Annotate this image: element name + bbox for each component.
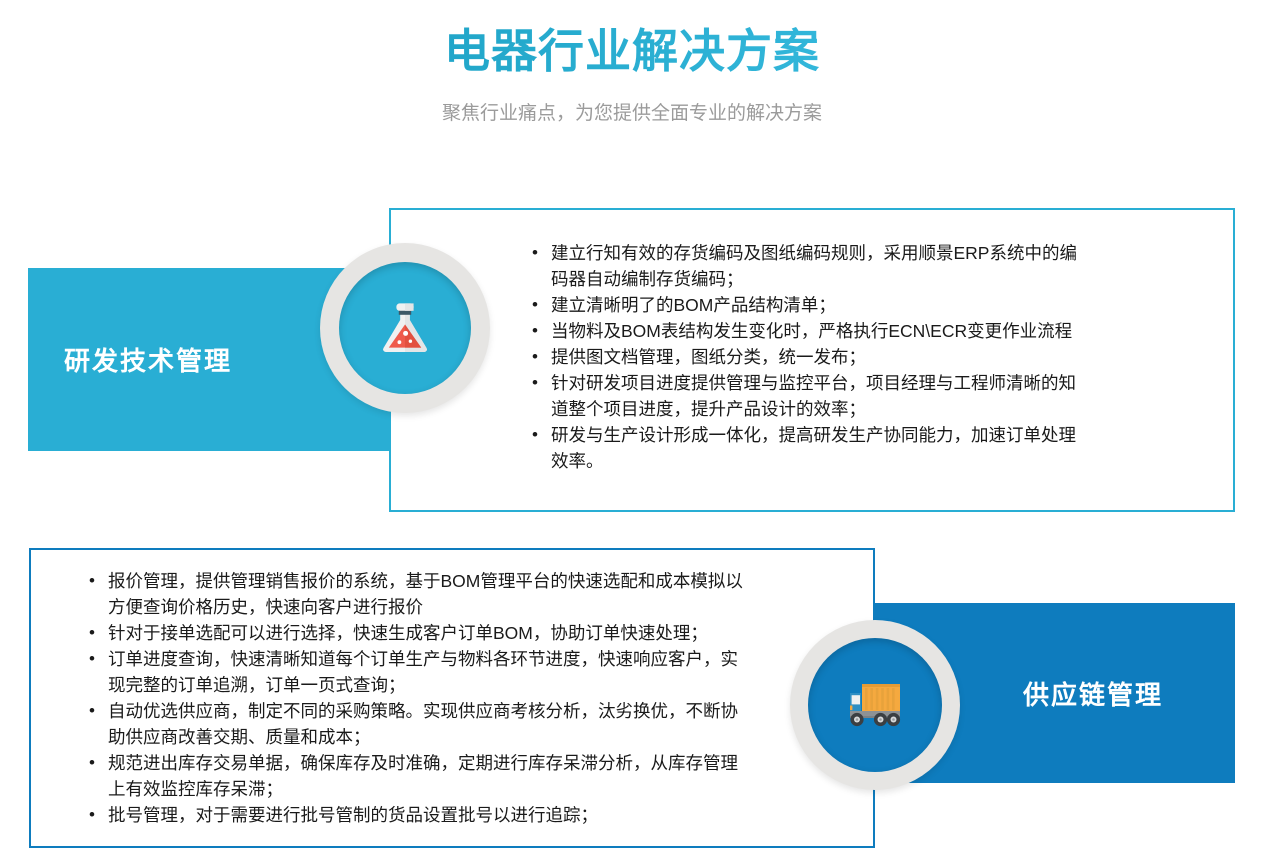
bullet-marker: • bbox=[82, 750, 108, 776]
list-item-text: 提供图文档管理，图纸分类，统一发布； bbox=[551, 344, 1085, 370]
list-item-text: 研发与生产设计形成一体化，提高研发生产协同能力，加速订单处理效率。 bbox=[551, 422, 1085, 474]
section-1-icon-badge bbox=[320, 243, 490, 413]
list-item: • 自动优选供应商，制定不同的采购策略。实现供应商考核分析，汰劣换优，不断协助供… bbox=[82, 698, 744, 750]
bullet-marker: • bbox=[82, 646, 108, 672]
list-item: • 建立清晰明了的BOM产品结构清单； bbox=[525, 292, 1085, 318]
page-subtitle: 聚焦行业痛点，为您提供全面专业的解决方案 bbox=[0, 100, 1264, 128]
list-item-text: 自动优选供应商，制定不同的采购策略。实现供应商考核分析，汰劣换优，不断协助供应商… bbox=[108, 698, 744, 750]
bullet-marker: • bbox=[82, 802, 108, 828]
bullet-marker: • bbox=[82, 698, 108, 724]
section-1-bullet-list: • 建立行知有效的存货编码及图纸编码规则，采用顺景ERP系统中的编码器自动编制存… bbox=[525, 240, 1085, 474]
list-item-text: 当物料及BOM表结构发生变化时，严格执行ECN\ECR变更作业流程 bbox=[551, 318, 1085, 344]
section-1-label: 研发技术管理 bbox=[64, 341, 232, 378]
bullet-marker: • bbox=[525, 240, 551, 266]
list-item: • 提供图文档管理，图纸分类，统一发布； bbox=[525, 344, 1085, 370]
list-item-text: 建立行知有效的存货编码及图纸编码规则，采用顺景ERP系统中的编码器自动编制存货编… bbox=[551, 240, 1085, 292]
bullet-marker: • bbox=[525, 344, 551, 370]
section-2-bullet-list: • 报价管理，提供管理销售报价的系统，基于BOM管理平台的快速选配和成本模拟以方… bbox=[82, 568, 744, 828]
bullet-marker: • bbox=[525, 422, 551, 448]
section-2-icon-badge bbox=[790, 620, 960, 790]
list-item-text: 针对研发项目进度提供管理与监控平台，项目经理与工程师清晰的知道整个项目进度，提升… bbox=[551, 370, 1085, 422]
list-item: • 针对研发项目进度提供管理与监控平台，项目经理与工程师清晰的知道整个项目进度，… bbox=[525, 370, 1085, 422]
bullet-marker: • bbox=[525, 292, 551, 318]
list-item: • 报价管理，提供管理销售报价的系统，基于BOM管理平台的快速选配和成本模拟以方… bbox=[82, 568, 744, 620]
list-item-text: 批号管理，对于需要进行批号管制的货品设置批号以进行追踪； bbox=[108, 802, 744, 828]
section-2-label: 供应链管理 bbox=[1023, 675, 1163, 712]
list-item: • 研发与生产设计形成一体化，提高研发生产协同能力，加速订单处理效率。 bbox=[525, 422, 1085, 474]
list-item: • 针对于接单选配可以进行选择，快速生成客户订单BOM，协助订单快速处理； bbox=[82, 620, 744, 646]
list-item: • 批号管理，对于需要进行批号管制的货品设置批号以进行追踪； bbox=[82, 802, 744, 828]
list-item-text: 报价管理，提供管理销售报价的系统，基于BOM管理平台的快速选配和成本模拟以方便查… bbox=[108, 568, 744, 620]
list-item-text: 建立清晰明了的BOM产品结构清单； bbox=[551, 292, 1085, 318]
flask-icon bbox=[373, 296, 437, 360]
list-item-text: 针对于接单选配可以进行选择，快速生成客户订单BOM，协助订单快速处理； bbox=[108, 620, 744, 646]
list-item: • 规范进出库存交易单据，确保库存及时准确，定期进行库存呆滞分析，从库存管理上有… bbox=[82, 750, 744, 802]
list-item: • 当物料及BOM表结构发生变化时，严格执行ECN\ECR变更作业流程 bbox=[525, 318, 1085, 344]
list-item-text: 规范进出库存交易单据，确保库存及时准确，定期进行库存呆滞分析，从库存管理上有效监… bbox=[108, 750, 744, 802]
bullet-marker: • bbox=[525, 370, 551, 396]
bullet-marker: • bbox=[525, 318, 551, 344]
list-item: • 建立行知有效的存货编码及图纸编码规则，采用顺景ERP系统中的编码器自动编制存… bbox=[525, 240, 1085, 292]
infographic-canvas: 电器行业解决方案 聚焦行业痛点，为您提供全面专业的解决方案 • 建立行知有效的存… bbox=[0, 0, 1264, 859]
list-item: • 订单进度查询，快速清晰知道每个订单生产与物料各环节进度，快速响应客户，实现完… bbox=[82, 646, 744, 698]
list-item-text: 订单进度查询，快速清晰知道每个订单生产与物料各环节进度，快速响应客户，实现完整的… bbox=[108, 646, 744, 698]
truck-icon bbox=[836, 676, 914, 734]
page-title: 电器行业解决方案 bbox=[0, 23, 1264, 79]
bullet-marker: • bbox=[82, 568, 108, 594]
bullet-marker: • bbox=[82, 620, 108, 646]
